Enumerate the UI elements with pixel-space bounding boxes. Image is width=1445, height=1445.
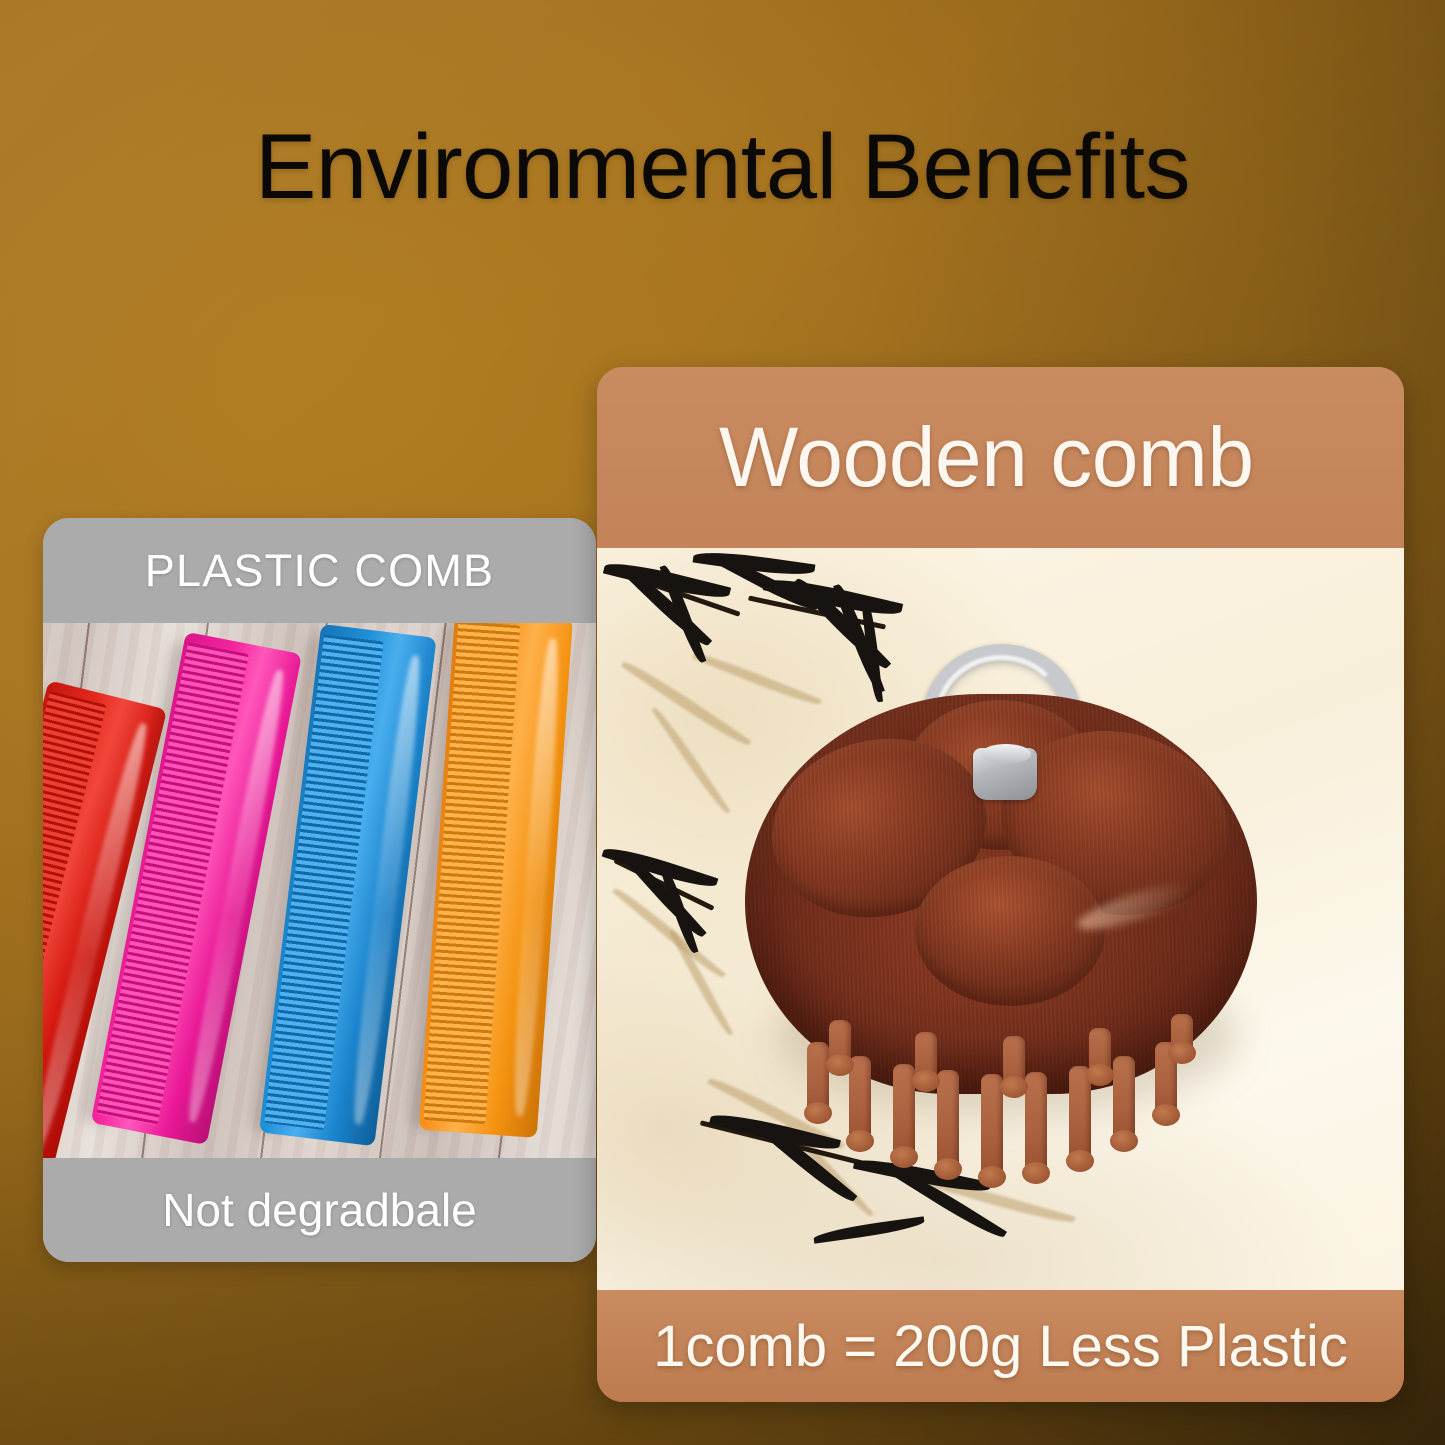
brush-bristle [1089,1028,1111,1082]
wooden-comb-header: Wooden comb [597,367,1404,548]
page-title: Environmental Benefits [0,121,1445,213]
brush-bristle [981,1074,1003,1184]
wooden-comb-card: Wooden comb [597,367,1404,1402]
wooden-comb-header-label: Wooden comb [719,409,1254,506]
brush-bristle [915,1032,937,1088]
brush-bristle [807,1042,829,1120]
wooden-comb-footer-label: 1comb = 200g Less Plastic [653,1313,1348,1380]
brush-bristle [1113,1056,1135,1148]
plastic-comb-footer: Not degradbale [43,1158,596,1262]
plastic-comb-header-label: PLASTIC COMB [145,545,494,597]
brush-bristle [1171,1014,1193,1060]
wooden-comb-footer: 1comb = 200g Less Plastic [597,1290,1404,1402]
plastic-comb-card: PLASTIC COMB [43,518,596,1262]
brush-bristle [829,1020,851,1072]
brush-bristle [937,1070,959,1176]
wooden-comb-photo [597,548,1404,1290]
wooden-scalp-brush [745,644,1257,1204]
brush-bristle [1003,1036,1025,1094]
plastic-comb-header: PLASTIC COMB [43,518,596,623]
ring-mount-cap [981,744,1031,764]
plastic-comb-footer-label: Not degradbale [162,1183,477,1237]
brush-bristle [1025,1072,1047,1180]
plastic-combs-photo [43,623,596,1158]
